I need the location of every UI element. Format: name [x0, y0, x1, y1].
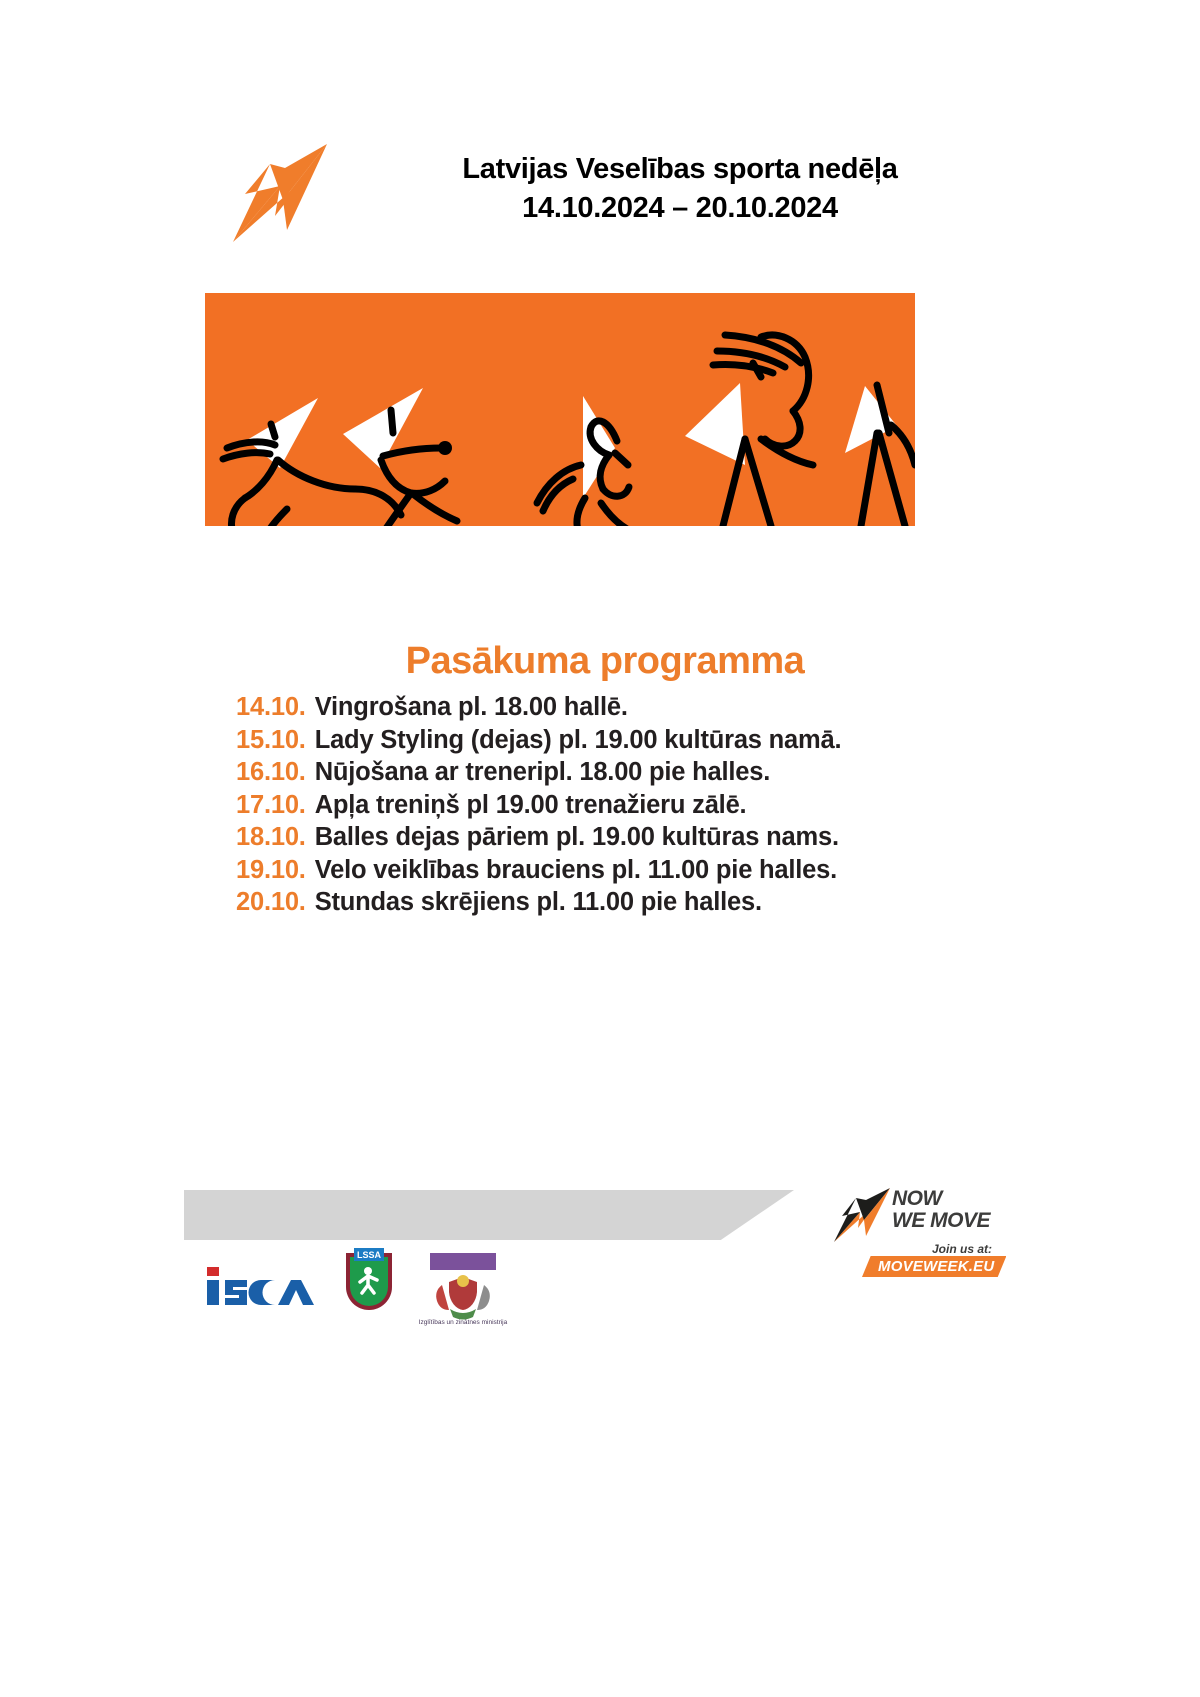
program-section: Pasākuma programma 14.10. Vingrošana pl.…	[0, 640, 1200, 919]
list-item: 18.10. Balles dejas pāriem pl. 19.00 kul…	[0, 821, 1200, 854]
footer-grey-band	[184, 1190, 794, 1240]
now-we-move-wordmark: NOW WE MOVE	[892, 1188, 990, 1232]
program-list: 14.10. Vingrošana pl. 18.00 hallē. 15.10…	[0, 691, 1200, 919]
list-item: 17.10. Apļa treniņš pl 19.00 trenažieru …	[0, 789, 1200, 822]
page-title-line1: Latvijas Veselības sporta nedēļa	[462, 153, 897, 185]
program-item-date: 16.10.	[236, 756, 306, 789]
program-item-text: Balles dejas pāriem pl. 19.00 kultūras n…	[315, 821, 839, 854]
program-item-text: Vingrošana pl. 18.00 hallē.	[315, 691, 628, 724]
lssa-logo: LSSA	[340, 1247, 398, 1321]
program-item-date: 18.10.	[236, 821, 306, 854]
list-item: 19.10. Velo veiklības brauciens pl. 11.0…	[0, 854, 1200, 887]
banner-illustration	[205, 293, 915, 526]
program-item-date: 17.10.	[236, 789, 306, 822]
svg-text:LSSA: LSSA	[357, 1250, 382, 1260]
now-we-move-arrow-icon	[832, 1186, 892, 1244]
program-item-date: 14.10.	[236, 691, 306, 724]
list-item: 15.10. Lady Styling (dejas) pl. 19.00 ku…	[0, 724, 1200, 757]
stick-figures-sport-illustration	[205, 293, 915, 526]
program-item-date: 20.10.	[236, 886, 306, 919]
list-item: 20.10. Stundas skrējiens pl. 11.00 pie h…	[0, 886, 1200, 919]
now-we-move-logo: NOW WE MOVE	[832, 1184, 992, 1250]
brand-line-1: NOW	[892, 1188, 990, 1210]
izm-logo-caption: Izglītības un zinātnes ministrija	[405, 1319, 521, 1327]
program-item-text: Lady Styling (dejas) pl. 19.00 kultūras …	[315, 724, 842, 757]
page-title: Latvijas Veselības sporta nedēļa 14.10.2…	[370, 150, 990, 228]
poster-header: Latvijas Veselības sporta nedēļa 14.10.2…	[0, 118, 1200, 248]
program-title: Pasākuma programma	[0, 640, 1200, 683]
now-we-move-arrow-icon	[225, 138, 335, 248]
page-title-line2: 14.10.2024 – 20.10.2024	[370, 189, 990, 228]
program-item-text: Stundas skrējiens pl. 11.00 pie halles.	[315, 886, 762, 919]
program-item-text: Apļa treniņš pl 19.00 trenažieru zālē.	[315, 789, 747, 822]
isca-logo	[205, 1263, 315, 1307]
program-item-date: 15.10.	[236, 724, 306, 757]
list-item: 16.10. Nūjošana ar treneripl. 18.00 pie …	[0, 756, 1200, 789]
program-item-text: Nūjošana ar treneripl. 18.00 pie halles.	[315, 756, 770, 789]
brand-line-2: WE MOVE	[892, 1210, 990, 1232]
list-item: 14.10. Vingrošana pl. 18.00 hallē.	[0, 691, 1200, 724]
program-item-date: 19.10.	[236, 854, 306, 887]
sponsor-logos: LSSA Izglītības un zinātnes ministrija	[0, 1245, 1200, 1355]
program-item-text: Velo veiklības brauciens pl. 11.00 pie h…	[315, 854, 837, 887]
